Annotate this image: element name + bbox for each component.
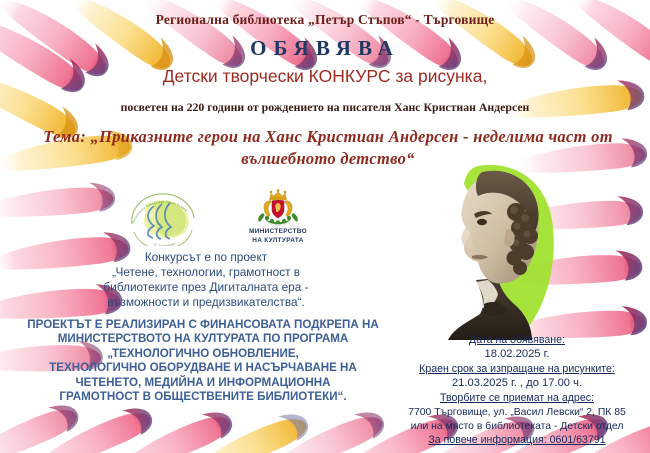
funding-line-1: МИНИСТЕРСТВОТО НА КУЛТУРАТА ПО ПРОГРАМА [18,332,388,346]
announce-heading: ОБЯВЯВА [0,36,650,61]
contest-theme: Тема: „Приказните герои на Ханс Кристиан… [30,126,626,170]
project-description: Конкурсът е по проект „Четене, технологи… [56,250,356,310]
project-line-3: възможности и предизвикателства“. [56,295,356,310]
library-logo-svg: Регионална библиотека Петър Стъпов гр. Т… [124,188,202,246]
funding-line-5: ГРАМОТНОСТ В ОБЩЕСТВЕНИТЕ БИБЛИОТЕКИ“. [18,390,388,404]
crown-icon [270,190,287,201]
ministry-logo-line-2: НА КУЛТУРАТА [249,237,307,246]
address-label: Творбите се приемат на адрес: [388,391,646,405]
dedication-line: посветен на 220 години от рождението на … [0,100,650,115]
funding-line-4: ЧЕТЕНЕТО, МЕДИЙНА И ИНФОРМАЦИОННА [18,376,388,390]
funding-line-2: „ТЕХНОЛОГИЧНО ОБНОВЛЕНИЕ, [18,347,388,361]
funding-line-3: ТЕХНОЛОГИЧНО ОБОРУДВАНЕ И НАСЪРЧАВАНЕ НА [18,361,388,375]
project-line-1: „Четене, технологии, грамотност в [56,265,356,280]
funding-statement: ПРОЕКТЪТ Е РЕАЛИЗИРАН С ФИНАНСОВАТА ПОДК… [18,318,388,404]
logo-row: Регионална библиотека Петър Стъпов гр. Т… [124,186,324,248]
coat-of-arms-icon [251,188,305,226]
project-line-2: библиотеките през Дигиталната ера - [56,280,356,295]
submission-info: Дата на обявяване: 18.02.2025 г. Краен с… [388,333,646,448]
library-logo-arc-text-bottom: гр. Търговище [153,241,176,246]
address-line-2: или на място в библиотеката - Детски отд… [388,420,646,434]
ministry-logo-line-1: МИНИСТЕРСТВО [249,228,307,237]
library-logo: Регионална библиотека Петър Стъпов гр. Т… [124,188,202,246]
project-line-0: Конкурсът е по проект [56,250,356,265]
funding-line-0: ПРОЕКТЪТ Е РЕАЛИЗИРАН С ФИНАНСОВАТА ПОДК… [18,318,388,332]
organization-line: Регионална библиотека „Петър Стъпов“ - Т… [0,12,650,28]
theme-line-2: вълшебното детство“ [30,148,626,170]
ministry-logo-text: МИНИСТЕРСТВО НА КУЛТУРАТА [249,228,307,245]
address-line-1: 7700 Търговище, ул. „Васил Левски“ 2, ПК… [388,406,646,420]
poster-canvas: Регионална библиотека „Петър Стъпов“ - Т… [0,0,650,453]
ministry-of-culture-logo: МИНИСТЕРСТВО НА КУЛТУРАТА [232,188,324,245]
contest-title: Детски творчески КОНКУРС за рисунка, [0,66,650,87]
theme-line-1: Тема: „Приказните герои на Ханс Кристиан… [30,126,626,148]
svg-text:гр. Търговище: гр. Търговище [153,241,176,246]
announce-date-label: Дата на обявяване: [388,333,646,347]
contact-info: За повече информация: 0601/63791 [388,433,646,447]
deadline-label: Краен срок за изпращане на рисунките: [388,362,646,376]
announce-date-value: 18.02.2025 г. [388,347,646,362]
deadline-value: 21.03.2025 г. , до 17.00 ч. [388,376,646,391]
